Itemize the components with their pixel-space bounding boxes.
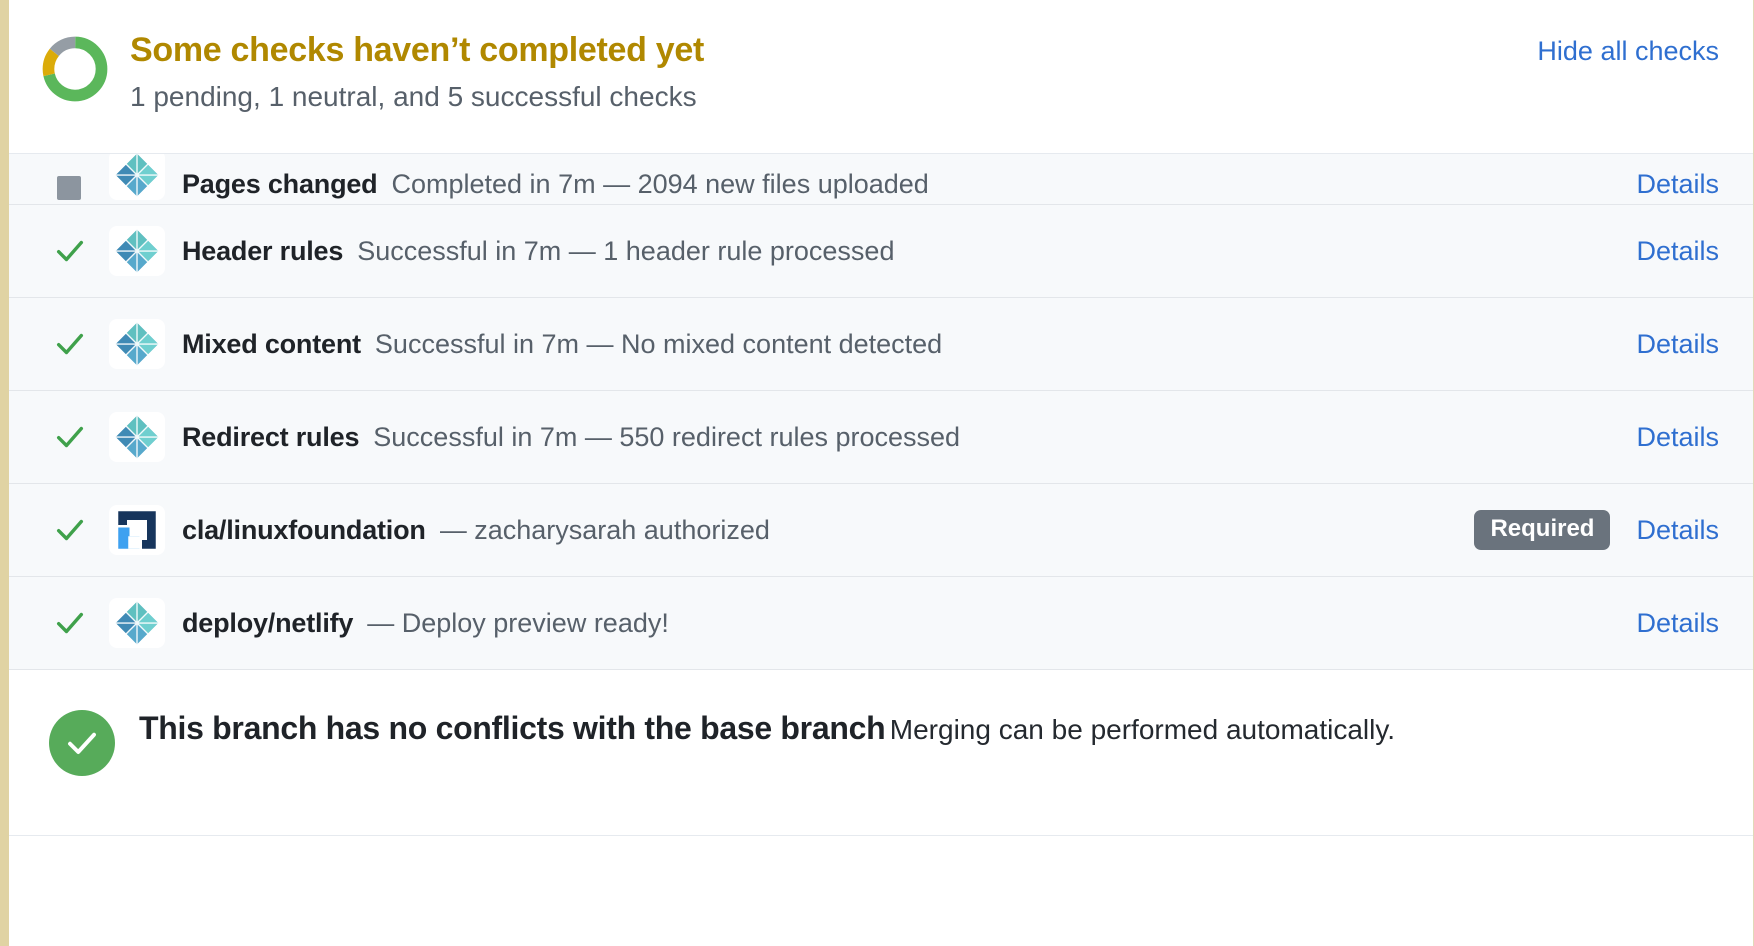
netlify-diamond-icon bbox=[109, 226, 165, 276]
check-row[interactable]: Pages changed Completed in 7m — 2094 new… bbox=[9, 154, 1753, 205]
checks-summary-text: Some checks haven’t completed yet 1 pend… bbox=[130, 28, 1537, 116]
check-name: Pages changed bbox=[182, 169, 377, 200]
check-details-link[interactable]: Details bbox=[1636, 169, 1719, 200]
checks-list: Pages changed Completed in 7m — 2094 new… bbox=[9, 154, 1753, 670]
status-success-icon bbox=[53, 606, 109, 640]
check-row[interactable]: deploy/netlify — Deploy preview ready! D… bbox=[9, 577, 1753, 670]
donut-chart-icon bbox=[40, 34, 110, 104]
check-row[interactable]: Header rules Successful in 7m — 1 header… bbox=[9, 205, 1753, 298]
check-description: Successful in 7m — No mixed content dete… bbox=[375, 329, 942, 360]
linux-foundation-icon bbox=[109, 505, 165, 555]
check-details-link[interactable]: Details bbox=[1636, 515, 1719, 546]
check-details-link[interactable]: Details bbox=[1636, 422, 1719, 453]
check-details-link[interactable]: Details bbox=[1636, 329, 1719, 360]
check-details-link[interactable]: Details bbox=[1636, 608, 1719, 639]
check-name: cla/linuxfoundation bbox=[182, 515, 426, 546]
check-row[interactable]: cla/linuxfoundation — zacharysarah autho… bbox=[9, 484, 1753, 577]
check-name: Redirect rules bbox=[182, 422, 359, 453]
required-badge: Required bbox=[1474, 510, 1610, 550]
netlify-diamond-icon bbox=[109, 412, 165, 462]
check-description: — zacharysarah authorized bbox=[440, 515, 770, 546]
branch-conflict-status: This branch has no conflicts with the ba… bbox=[9, 670, 1753, 836]
hide-all-checks-link[interactable]: Hide all checks bbox=[1537, 36, 1719, 67]
checks-summary-title: Some checks haven’t completed yet bbox=[130, 30, 1537, 71]
branch-conflict-subtitle: Merging can be performed automatically. bbox=[890, 714, 1395, 745]
status-neutral-icon bbox=[53, 176, 109, 200]
check-description: Successful in 7m — 1 header rule process… bbox=[357, 236, 894, 267]
checks-summary-header: Some checks haven’t completed yet 1 pend… bbox=[9, 0, 1753, 154]
check-details-link[interactable]: Details bbox=[1636, 236, 1719, 267]
branch-conflict-title: This branch has no conflicts with the ba… bbox=[139, 710, 885, 746]
status-success-icon bbox=[53, 513, 109, 547]
status-success-icon bbox=[53, 327, 109, 361]
check-row[interactable]: Redirect rules Successful in 7m — 550 re… bbox=[9, 391, 1753, 484]
check-description: Successful in 7m — 550 redirect rules pr… bbox=[373, 422, 960, 453]
check-description: Completed in 7m — 2094 new files uploade… bbox=[391, 169, 928, 200]
branch-conflict-text: This branch has no conflicts with the ba… bbox=[139, 708, 1395, 750]
check-name: Mixed content bbox=[182, 329, 361, 360]
success-circle-check-icon bbox=[49, 710, 115, 776]
check-row[interactable]: Mixed content Successful in 7m — No mixe… bbox=[9, 298, 1753, 391]
status-success-icon bbox=[53, 234, 109, 268]
merge-status-box: Some checks haven’t completed yet 1 pend… bbox=[0, 0, 1754, 946]
netlify-diamond-icon bbox=[109, 150, 165, 200]
check-name: Header rules bbox=[182, 236, 343, 267]
netlify-diamond-icon bbox=[109, 319, 165, 369]
checks-summary-subtitle: 1 pending, 1 neutral, and 5 successful c… bbox=[130, 78, 1537, 116]
status-success-icon bbox=[53, 420, 109, 454]
netlify-diamond-icon bbox=[109, 598, 165, 648]
check-name: deploy/netlify bbox=[182, 608, 353, 639]
checks-status-donut bbox=[40, 34, 110, 104]
check-description: — Deploy preview ready! bbox=[367, 608, 669, 639]
